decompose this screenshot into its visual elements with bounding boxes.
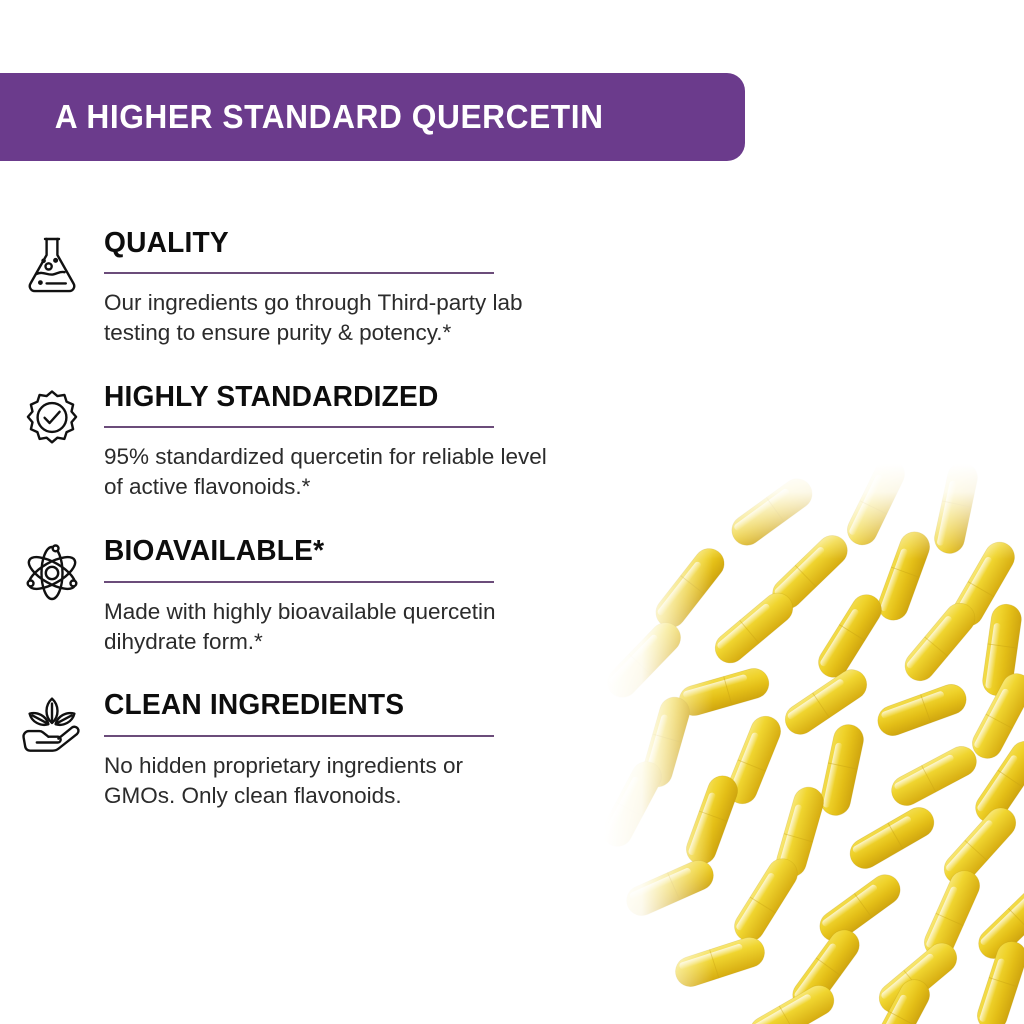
feature-list: QUALITY Our ingredients go through Third…	[0, 228, 760, 811]
page-title: A HIGHER STANDARD QUERCETIN	[0, 98, 604, 136]
feature-heading: QUALITY	[104, 228, 740, 259]
feature-divider	[104, 581, 494, 583]
feature-description: No hidden proprietary ingredients or GMO…	[104, 751, 720, 811]
feature-item-bioavailable: BIOAVAILABLE* Made with highly bioavaila…	[0, 536, 760, 656]
header-banner: A HIGHER STANDARD QUERCETIN	[0, 73, 745, 161]
feature-divider	[104, 272, 494, 274]
feature-heading: CLEAN INGREDIENTS	[104, 690, 740, 721]
feature-item-quality: QUALITY Our ingredients go through Third…	[0, 228, 760, 348]
feature-description: 95% standardized quercetin for reliable …	[104, 442, 720, 502]
feature-item-highly-standardized: HIGHLY STANDARDIZED 95% standardized que…	[0, 382, 760, 502]
feature-divider	[104, 735, 494, 737]
feature-heading: BIOAVAILABLE*	[104, 536, 740, 567]
certified-badge-icon	[0, 382, 104, 448]
feature-heading: HIGHLY STANDARDIZED	[104, 382, 740, 413]
feature-item-clean-ingredients: CLEAN INGREDIENTS No hidden proprietary …	[0, 690, 760, 810]
flask-icon	[0, 228, 104, 296]
atom-icon	[0, 536, 104, 604]
feature-divider	[104, 426, 494, 428]
feature-description: Made with highly bioavailable quercetin …	[104, 597, 720, 657]
hand-sprout-icon	[0, 690, 104, 756]
feature-description: Our ingredients go through Third-party l…	[104, 288, 720, 348]
